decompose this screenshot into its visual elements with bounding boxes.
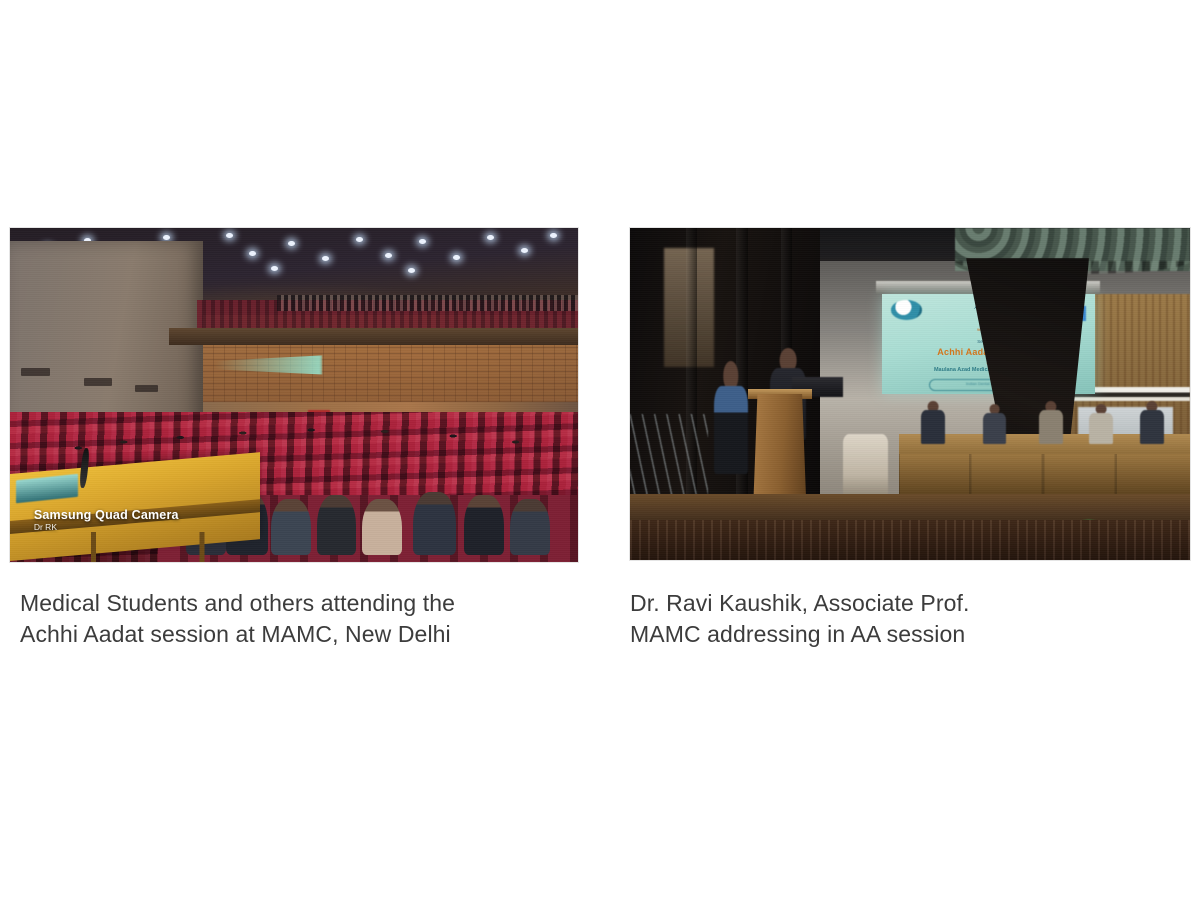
table-legs xyxy=(67,532,237,562)
photo-stage[interactable]: Anti-tobacco 9th Jan 2020 Session on Ach… xyxy=(630,228,1190,560)
stage-attendant xyxy=(714,361,748,474)
audience-member xyxy=(464,495,504,555)
audience-member xyxy=(510,499,550,556)
photo-audience[interactable]: Samsung Quad Camera Dr RK xyxy=(10,228,578,562)
panelist xyxy=(1089,404,1113,444)
attendant-body xyxy=(714,386,748,474)
audience-member xyxy=(317,495,357,555)
panelist xyxy=(1140,401,1165,444)
wall-vent xyxy=(135,385,158,392)
wall-vent xyxy=(84,378,112,386)
wall-vent xyxy=(21,368,49,376)
ceiling-downlight xyxy=(550,233,557,238)
podium xyxy=(753,394,806,507)
audience-member xyxy=(413,492,456,555)
stage-skirt xyxy=(630,520,1190,560)
ida-logo-icon xyxy=(891,300,923,320)
panelist-body xyxy=(1039,410,1064,444)
panelist-body xyxy=(1089,413,1113,444)
panelist xyxy=(983,404,1007,444)
stage-chair xyxy=(843,434,888,497)
audience-member xyxy=(271,499,311,556)
panelist-body xyxy=(921,410,945,444)
ceiling-downlight xyxy=(487,235,494,240)
caption-audience: Medical Students and others attending th… xyxy=(20,588,580,650)
dais-front-panel xyxy=(899,454,1190,497)
panelist xyxy=(921,401,945,444)
panelist-body xyxy=(983,413,1007,444)
balcony-audience xyxy=(277,295,578,312)
ceiling-downlight xyxy=(408,268,415,273)
balcony-front-rail xyxy=(169,328,578,345)
audience-member xyxy=(362,499,402,556)
panelist-body xyxy=(1140,410,1165,444)
slide-canvas: Samsung Quad Camera Dr RK Anti-tobacco 9… xyxy=(0,0,1200,900)
caption-stage: Dr. Ravi Kaushik, Associate Prof. MAMC a… xyxy=(630,588,1170,650)
panelist xyxy=(1039,401,1064,444)
